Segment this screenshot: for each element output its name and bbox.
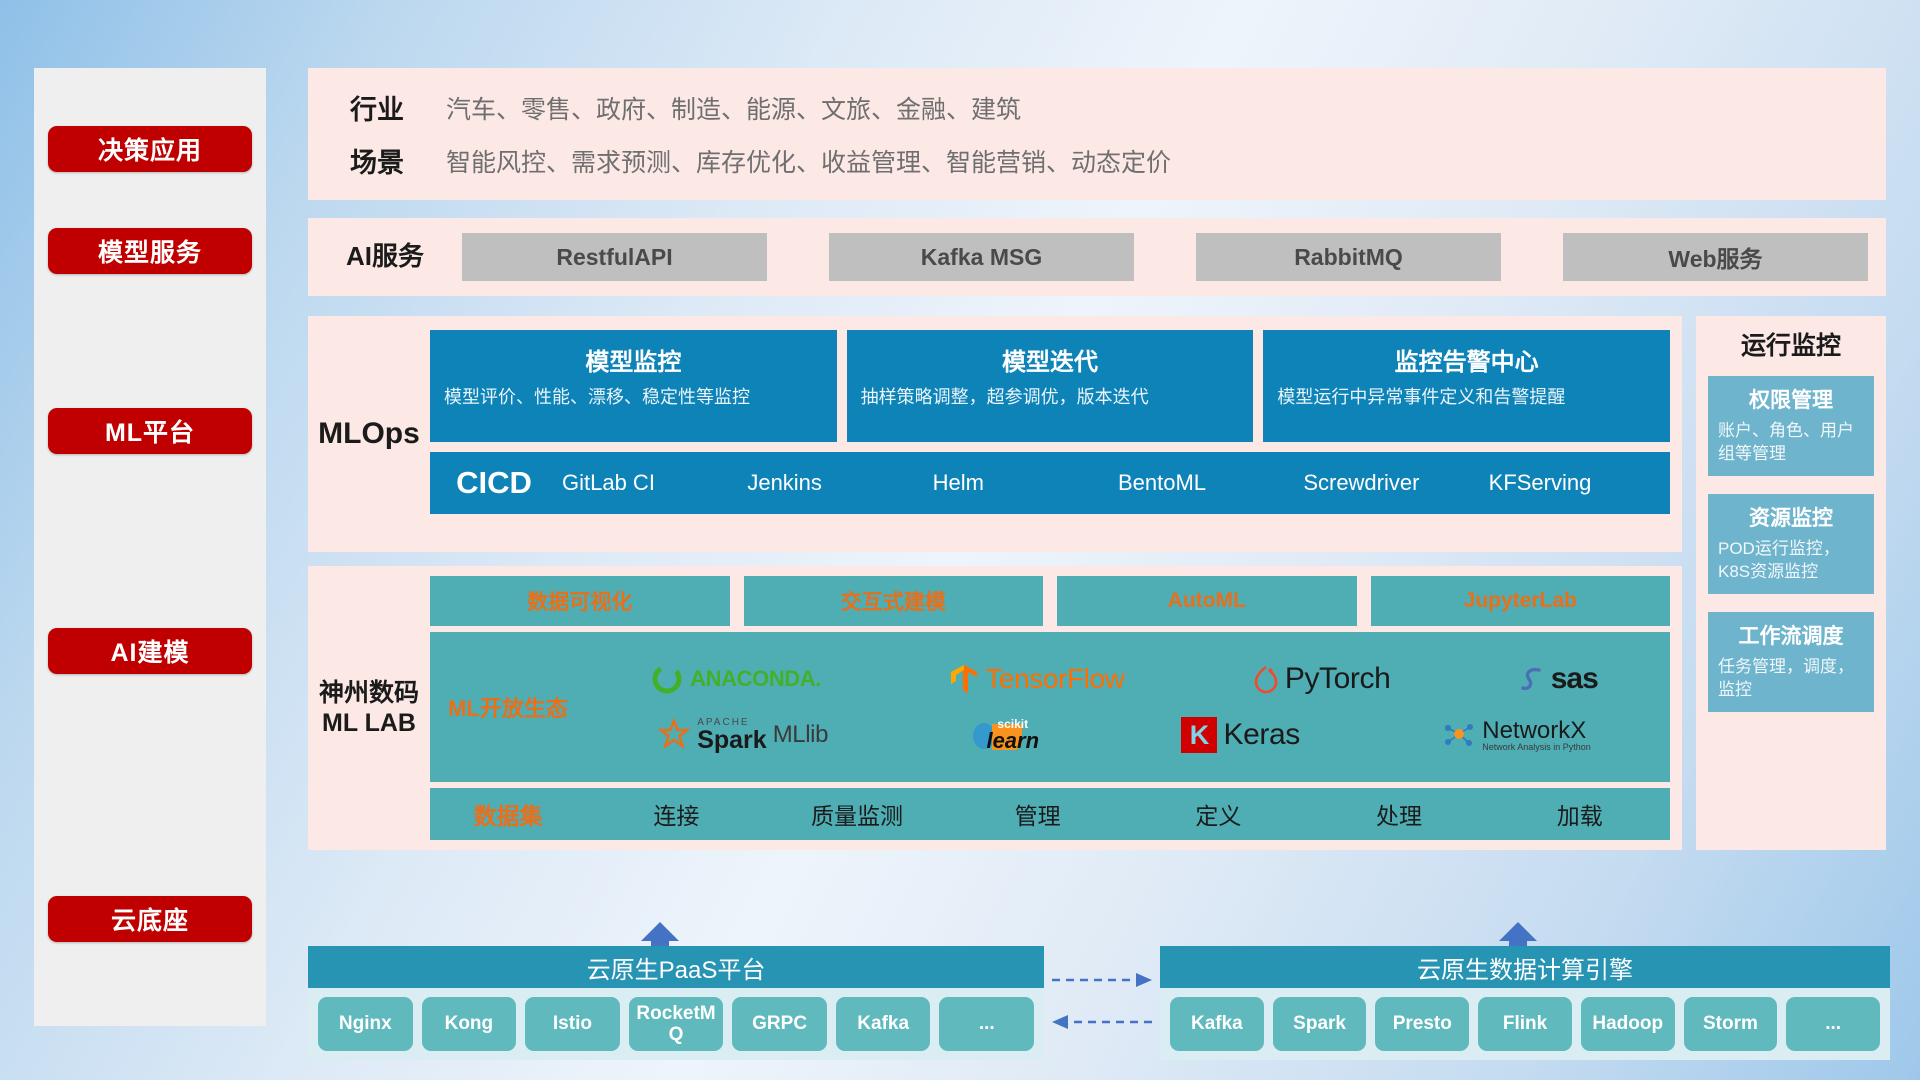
paas-pill-kafka[interactable]: Kafka bbox=[836, 997, 931, 1051]
cicd-title: CICD bbox=[430, 465, 558, 501]
tensorflow-icon bbox=[949, 663, 979, 695]
paas-pill-kong[interactable]: Kong bbox=[422, 997, 517, 1051]
card-description: 任务管理，调度，监控 bbox=[1718, 656, 1864, 702]
ai-service-items: RestfulAPI Kafka MSG RabbitMQ Web服务 bbox=[462, 233, 1886, 281]
cicd-item-jenkins[interactable]: Jenkins bbox=[743, 468, 928, 497]
dataset-item-list: 连接 质量监测 管理 定义 处理 加载 bbox=[586, 797, 1670, 831]
tensorflow-logo: TensorFlow bbox=[949, 663, 1124, 695]
dataset-item-process[interactable]: 处理 bbox=[1309, 797, 1490, 831]
layer-rail: 决策应用 模型服务 ML平台 AI建模 云底座 bbox=[34, 68, 266, 1026]
engine-pill-kafka[interactable]: Kafka bbox=[1170, 997, 1264, 1051]
cicd-item-list: GitLab CI Jenkins Helm BentoML Screwdriv… bbox=[558, 468, 1670, 497]
engine-pill-spark[interactable]: Spark bbox=[1273, 997, 1367, 1051]
keras-logo: K Keras bbox=[1181, 717, 1299, 753]
mlops-card-model-iteration[interactable]: 模型迭代 抽样策略调整，超参调优，版本迭代 bbox=[847, 330, 1254, 442]
mlops-card-list: 模型监控 模型评价、性能、漂移、稳定性等监控 模型迭代 抽样策略调整，超参调优，… bbox=[430, 330, 1670, 442]
engine-pill-presto[interactable]: Presto bbox=[1375, 997, 1469, 1051]
pytorch-logo: PyTorch bbox=[1253, 662, 1391, 696]
lab-tool-list: 数据可视化 交互式建模 AutoML JupyterLab bbox=[430, 576, 1670, 626]
cicd-row: CICD GitLab CI Jenkins Helm BentoML Scre… bbox=[430, 452, 1670, 514]
service-chip-kafka-msg[interactable]: Kafka MSG bbox=[829, 233, 1134, 281]
cicd-item-gitlab-ci[interactable]: GitLab CI bbox=[558, 468, 743, 497]
ecosystem-logo-row-1: ANACONDA. TensorFlow bbox=[586, 653, 1662, 705]
sas-label: sas bbox=[1551, 662, 1598, 696]
ml-lab-label-line2: ML LAB bbox=[319, 708, 419, 739]
card-title: 模型迭代 bbox=[861, 342, 1240, 377]
sas-logo: sas bbox=[1519, 662, 1598, 696]
anaconda-label: ANACONDA. bbox=[690, 666, 821, 692]
cloud-native-paas-stack: 云原生PaaS平台 Nginx Kong Istio RocketMQ GRPC… bbox=[308, 946, 1044, 1060]
service-chip-rabbitmq[interactable]: RabbitMQ bbox=[1196, 233, 1501, 281]
lab-tool-jupyterlab[interactable]: JupyterLab bbox=[1371, 576, 1671, 626]
industry-scenario-list: 行业 汽车、零售、政府、制造、能源、文旅、金融、建筑 场景 智能风控、需求预测、… bbox=[308, 81, 1886, 187]
mlops-label: MLOps bbox=[308, 316, 430, 552]
cicd-item-bentoml[interactable]: BentoML bbox=[1114, 468, 1299, 497]
dataset-title: 数据集 bbox=[430, 797, 586, 831]
paas-pill-more[interactable]: ... bbox=[939, 997, 1034, 1051]
networkx-tagline: Network Analysis in Python bbox=[1482, 743, 1591, 752]
layer-chip-label: 决策应用 bbox=[98, 131, 202, 167]
pytorch-icon bbox=[1253, 664, 1279, 694]
engine-pill-hadoop[interactable]: Hadoop bbox=[1581, 997, 1675, 1051]
paas-pill-rocketmq[interactable]: RocketMQ bbox=[629, 997, 724, 1051]
learn-label: learn bbox=[986, 730, 1039, 752]
lab-tool-data-visualization[interactable]: 数据可视化 bbox=[430, 576, 730, 626]
ai-service-label: AI服务 bbox=[308, 241, 462, 273]
paas-component-list: Nginx Kong Istio RocketMQ GRPC Kafka ... bbox=[308, 988, 1044, 1060]
card-description: 模型运行中异常事件定义和告警提醒 bbox=[1277, 386, 1656, 410]
card-description: 模型评价、性能、漂移、稳定性等监控 bbox=[444, 386, 823, 410]
mlops-card-model-monitoring[interactable]: 模型监控 模型评价、性能、漂移、稳定性等监控 bbox=[430, 330, 837, 442]
ai-service-band: AI服务 RestfulAPI Kafka MSG RabbitMQ Web服务 bbox=[308, 218, 1886, 296]
ecosystem-title: ML开放生态 bbox=[430, 691, 586, 723]
service-chip-web-service[interactable]: Web服务 bbox=[1563, 233, 1868, 281]
dataset-item-quality[interactable]: 质量监测 bbox=[767, 797, 948, 831]
card-description: POD运行监控，K8S资源监控 bbox=[1718, 538, 1864, 584]
paas-pill-istio[interactable]: Istio bbox=[525, 997, 620, 1051]
cicd-item-kfserving[interactable]: KFServing bbox=[1485, 468, 1670, 497]
layer-chip-cloud-base[interactable]: 云底座 bbox=[48, 896, 252, 942]
monitor-card-workflow[interactable]: 工作流调度 任务管理，调度，监控 bbox=[1708, 612, 1874, 712]
spark-mllib-logo: APACHE Spark MLlib bbox=[657, 718, 828, 753]
card-description: 账户、角色、用户组等管理 bbox=[1718, 420, 1864, 466]
ml-lab-band: 神州数码 ML LAB 数据可视化 交互式建模 AutoML JupyterLa… bbox=[308, 566, 1682, 850]
list-item: 行业 汽车、零售、政府、制造、能源、文旅、金融、建筑 bbox=[308, 81, 1886, 134]
lab-tool-interactive-modeling[interactable]: 交互式建模 bbox=[744, 576, 1044, 626]
ml-lab-label: 神州数码 ML LAB bbox=[308, 566, 430, 850]
monitor-card-resource[interactable]: 资源监控 POD运行监控，K8S资源监控 bbox=[1708, 494, 1874, 594]
cloud-native-data-engine-stack: 云原生数据计算引擎 Kafka Spark Presto Flink Hadoo… bbox=[1160, 946, 1890, 1060]
ml-open-ecosystem: ML开放生态 ANACONDA. bbox=[430, 632, 1670, 782]
engine-pill-flink[interactable]: Flink bbox=[1478, 997, 1572, 1051]
dataset-item-define[interactable]: 定义 bbox=[1128, 797, 1309, 831]
decision-apps-band: 行业 汽车、零售、政府、制造、能源、文旅、金融、建筑 场景 智能风控、需求预测、… bbox=[308, 68, 1886, 200]
panel-title: 运行监控 bbox=[1708, 326, 1874, 362]
card-description: 抽样策略调整，超参调优，版本迭代 bbox=[861, 386, 1240, 410]
cicd-item-screwdriver[interactable]: Screwdriver bbox=[1299, 468, 1484, 497]
engine-pill-more[interactable]: ... bbox=[1786, 997, 1880, 1051]
dataset-item-connect[interactable]: 连接 bbox=[586, 797, 767, 831]
anaconda-logo: ANACONDA. bbox=[650, 662, 821, 696]
tensorflow-label: TensorFlow bbox=[985, 663, 1124, 695]
dataset-item-load[interactable]: 加载 bbox=[1489, 797, 1670, 831]
industry-value: 汽车、零售、政府、制造、能源、文旅、金融、建筑 bbox=[446, 90, 1021, 126]
layer-chip-model-service[interactable]: 模型服务 bbox=[48, 228, 252, 274]
engine-component-list: Kafka Spark Presto Flink Hadoop Storm ..… bbox=[1160, 988, 1890, 1060]
mlops-card-alert-center[interactable]: 监控告警中心 模型运行中异常事件定义和告警提醒 bbox=[1263, 330, 1670, 442]
scenario-key: 场景 bbox=[308, 141, 446, 180]
list-item: 场景 智能风控、需求预测、库存优化、收益管理、智能营销、动态定价 bbox=[308, 134, 1886, 187]
ml-lab-label-line1: 神州数码 bbox=[319, 678, 419, 709]
industry-key: 行业 bbox=[308, 88, 446, 127]
networkx-label: NetworkX bbox=[1482, 718, 1591, 743]
paas-title: 云原生PaaS平台 bbox=[308, 946, 1044, 988]
card-title: 模型监控 bbox=[444, 342, 823, 377]
layer-chip-ml-platform[interactable]: ML平台 bbox=[48, 408, 252, 454]
ecosystem-logo-row-2: APACHE Spark MLlib bbox=[586, 709, 1662, 761]
layer-chip-decision-apps[interactable]: 决策应用 bbox=[48, 126, 252, 172]
networkx-logo: NetworkX Network Analysis in Python bbox=[1442, 718, 1591, 753]
anaconda-icon bbox=[650, 662, 684, 696]
engine-title: 云原生数据计算引擎 bbox=[1160, 946, 1890, 988]
sas-icon bbox=[1519, 664, 1545, 694]
runtime-monitoring-panel: 运行监控 权限管理 账户、角色、用户组等管理 资源监控 POD运行监控，K8S资… bbox=[1696, 316, 1886, 850]
engine-pill-storm[interactable]: Storm bbox=[1684, 997, 1778, 1051]
paas-pill-nginx[interactable]: Nginx bbox=[318, 997, 413, 1051]
card-title: 工作流调度 bbox=[1718, 620, 1864, 650]
mlops-band: MLOps 模型监控 模型评价、性能、漂移、稳定性等监控 模型迭代 抽样策略调整… bbox=[308, 316, 1682, 552]
layer-chip-label: AI建模 bbox=[110, 633, 189, 669]
layer-chip-ai-modeling[interactable]: AI建模 bbox=[48, 628, 252, 674]
monitor-card-permission[interactable]: 权限管理 账户、角色、用户组等管理 bbox=[1708, 376, 1874, 476]
networkx-graph-icon bbox=[1442, 719, 1476, 751]
lab-tool-automl[interactable]: AutoML bbox=[1057, 576, 1357, 626]
spark-label: Spark bbox=[697, 728, 766, 753]
spark-star-icon bbox=[657, 718, 691, 752]
card-title: 监控告警中心 bbox=[1277, 342, 1656, 377]
keras-label: Keras bbox=[1223, 718, 1299, 752]
pytorch-label: PyTorch bbox=[1285, 662, 1391, 696]
architecture-diagram: 决策应用 模型服务 ML平台 AI建模 云底座 行业 汽车、零售、政府、制造、能… bbox=[0, 0, 1920, 1080]
scikit-learn-logo: scikit learn bbox=[970, 718, 1039, 752]
keras-mark-icon: K bbox=[1181, 717, 1217, 753]
card-title: 资源监控 bbox=[1718, 502, 1864, 532]
bidirectional-link bbox=[1050, 966, 1154, 1034]
cicd-item-helm[interactable]: Helm bbox=[929, 468, 1114, 497]
layer-chip-label: ML平台 bbox=[105, 413, 195, 449]
service-chip-restfulapi[interactable]: RestfulAPI bbox=[462, 233, 767, 281]
card-title: 权限管理 bbox=[1718, 384, 1864, 414]
layer-chip-label: 模型服务 bbox=[98, 233, 202, 269]
dataset-item-manage[interactable]: 管理 bbox=[947, 797, 1128, 831]
dataset-row: 数据集 连接 质量监测 管理 定义 处理 加载 bbox=[430, 788, 1670, 840]
mllib-label: MLlib bbox=[773, 721, 828, 749]
paas-pill-grpc[interactable]: GRPC bbox=[732, 997, 827, 1051]
dashed-arrows-icon bbox=[1050, 966, 1154, 1034]
scenario-value: 智能风控、需求预测、库存优化、收益管理、智能营销、动态定价 bbox=[446, 143, 1171, 179]
layer-chip-label: 云底座 bbox=[111, 901, 189, 937]
